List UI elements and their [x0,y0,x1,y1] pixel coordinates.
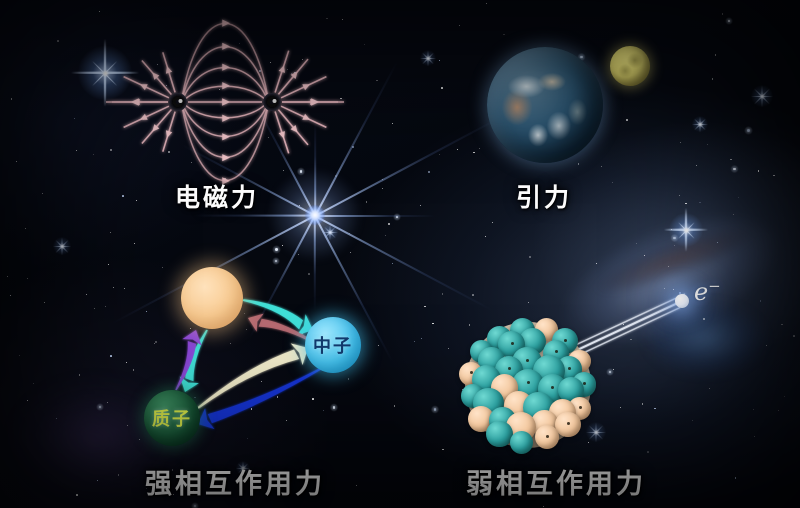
electron-label: e− [694,277,721,306]
diagram-canvas: 中子 质子 e− 电磁力 引力 强相互作用力 弱相互作用力 [0,0,800,508]
electron-symbol: e [694,278,708,306]
emitted-electron-dot [675,294,689,308]
label-strong-force: 强相互作用力 [145,462,325,501]
label-electromagnetic: 电磁力 [175,178,259,214]
electron-track-lines [0,0,800,508]
electron-charge: − [708,277,720,295]
beta-decay-nucleus-icon [461,318,595,452]
label-weak-force: 弱相互作用力 [466,462,646,501]
label-gravity: 引力 [516,178,572,214]
